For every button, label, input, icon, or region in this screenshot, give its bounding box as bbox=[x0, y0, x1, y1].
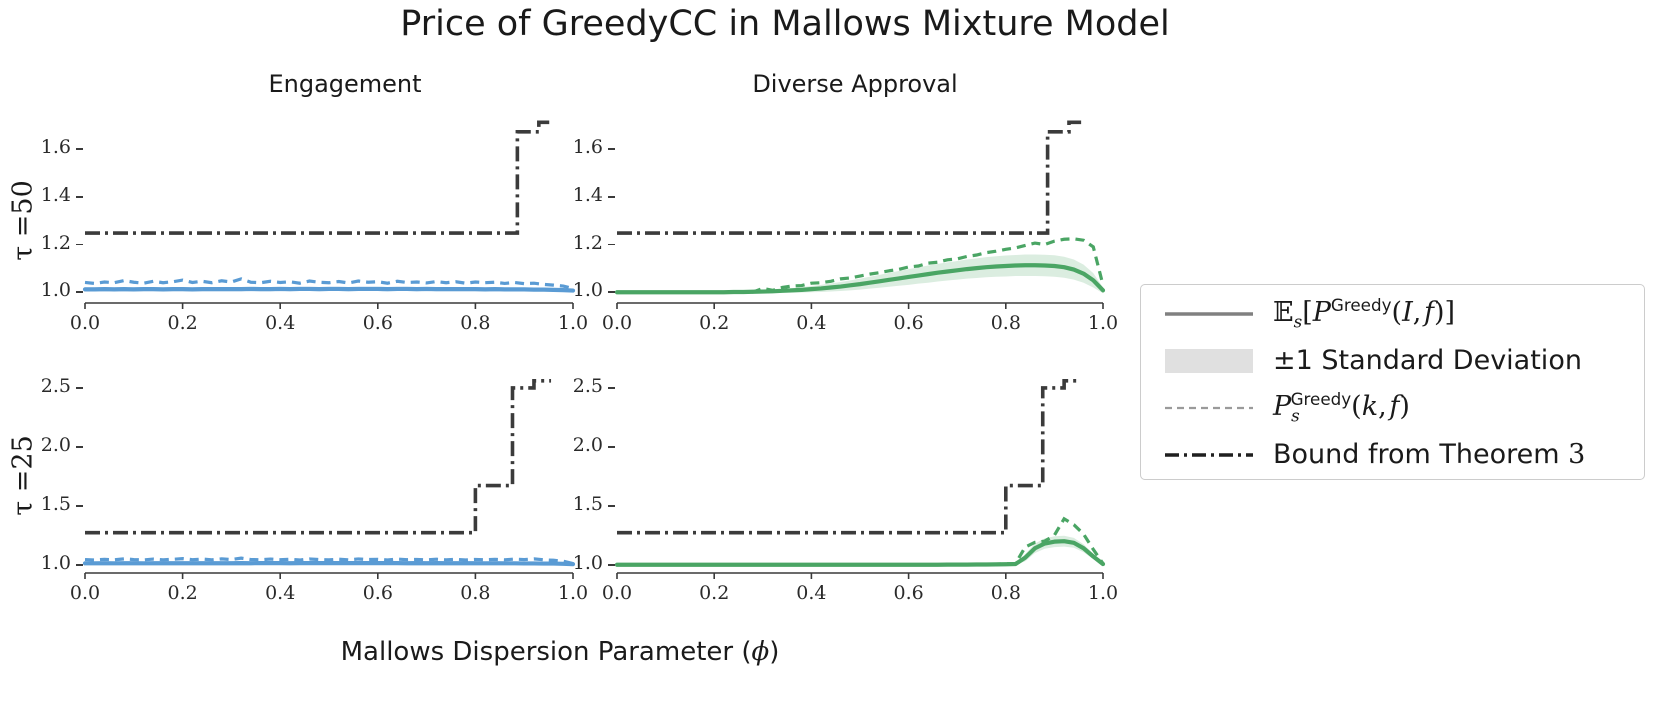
x-tick-label: 0.2 bbox=[684, 312, 744, 334]
figure-canvas: Price of GreedyCC in Mallows Mixture Mod… bbox=[0, 0, 1660, 703]
y-tick-label: 1.4 bbox=[23, 184, 71, 206]
y-tick-label: 2.5 bbox=[23, 375, 71, 397]
x-axis-label: Mallows Dispersion Parameter (ϕ) bbox=[300, 637, 820, 667]
x-axis-label-prefix: Mallows Dispersion Parameter ( bbox=[341, 637, 752, 667]
y-tick-label: 2.5 bbox=[555, 375, 603, 397]
y-tick-mark bbox=[76, 148, 83, 150]
legend-entry-bound: Bound from Theorem 3 bbox=[1141, 430, 1644, 479]
y-tick-label: 1.6 bbox=[555, 136, 603, 158]
x-tick-label: 0.6 bbox=[348, 312, 408, 334]
legend-bound-text: Bound from Theorem bbox=[1273, 439, 1568, 470]
y-tick-mark bbox=[76, 387, 83, 389]
theorem-bound-curve bbox=[85, 381, 551, 533]
x-tick-label: 0.0 bbox=[55, 312, 115, 334]
y-tick-label: 1.0 bbox=[555, 552, 603, 574]
plot-area bbox=[617, 118, 1103, 304]
x-tick-label: 0.2 bbox=[684, 582, 744, 604]
y-tick-label: 1.5 bbox=[23, 493, 71, 515]
x-tick-label: 0.4 bbox=[781, 582, 841, 604]
y-tick-mark bbox=[76, 505, 83, 507]
y-tick-mark bbox=[76, 446, 83, 448]
theorem-bound-curve bbox=[617, 381, 1081, 533]
x-tick-label: 0.2 bbox=[153, 312, 213, 334]
x-tick-label: 0.8 bbox=[976, 312, 1036, 334]
y-tick-mark bbox=[76, 244, 83, 246]
x-tick-label: 0.8 bbox=[976, 582, 1036, 604]
y-tick-mark bbox=[608, 291, 615, 293]
x-tick-label: 0.4 bbox=[781, 312, 841, 334]
x-axis-label-suffix: ) bbox=[769, 637, 779, 667]
panel-25-diverse-approval: 1.01.52.02.50.00.20.40.60.81.0 bbox=[617, 362, 1103, 574]
y-tick-mark bbox=[608, 564, 615, 566]
x-tick-label: 0.8 bbox=[445, 312, 505, 334]
y-tick-label: 1.2 bbox=[555, 232, 603, 254]
legend-bound-number: 3 bbox=[1568, 439, 1585, 470]
y-tick-label: 1.0 bbox=[23, 552, 71, 574]
figure-title: Price of GreedyCC in Mallows Mixture Mod… bbox=[0, 4, 1570, 44]
legend-sample-solid-line bbox=[1163, 299, 1255, 329]
x-tick-label: 0.2 bbox=[153, 582, 213, 604]
y-tick-label: 1.6 bbox=[23, 136, 71, 158]
std-deviation-band bbox=[617, 255, 1103, 294]
x-tick-label: 0.0 bbox=[587, 582, 647, 604]
legend-label-bound: Bound from Theorem 3 bbox=[1273, 439, 1585, 470]
legend-label-std-band: ±1 Standard Deviation bbox=[1273, 345, 1582, 376]
y-tick-label: 2.0 bbox=[555, 434, 603, 456]
y-tick-mark bbox=[76, 564, 83, 566]
x-tick-label: 0.0 bbox=[55, 582, 115, 604]
panel-25-engagement: 1.01.52.02.50.00.20.40.60.81.0 bbox=[85, 362, 573, 574]
plot-area bbox=[85, 118, 573, 304]
sample-curve bbox=[617, 519, 1103, 565]
column-title-diverse-approval: Diverse Approval bbox=[630, 70, 1080, 98]
y-tick-mark bbox=[608, 148, 615, 150]
mean-curve bbox=[85, 289, 573, 291]
x-tick-label: 0.0 bbox=[587, 312, 647, 334]
y-tick-label: 1.0 bbox=[23, 279, 71, 301]
plot-area bbox=[85, 362, 573, 574]
phi-symbol: ϕ bbox=[751, 637, 769, 667]
theorem-bound-curve bbox=[85, 122, 551, 233]
legend-sample-dashdot-line bbox=[1163, 440, 1255, 470]
legend-entry-mean: 𝔼s[PGreedy(I, f)] bbox=[1141, 289, 1644, 338]
legend-sample-dashed-line bbox=[1163, 393, 1255, 423]
panel-50-diverse-approval: 1.01.21.41.60.00.20.40.60.81.0 bbox=[617, 118, 1103, 304]
legend-entry-std-band: ±1 Standard Deviation bbox=[1141, 336, 1644, 385]
x-tick-label: 0.6 bbox=[879, 582, 939, 604]
column-title-engagement: Engagement bbox=[120, 70, 570, 98]
y-tick-label: 1.0 bbox=[555, 279, 603, 301]
y-tick-label: 2.0 bbox=[23, 434, 71, 456]
legend-label-mean: 𝔼s[PGreedy(I, f)] bbox=[1273, 295, 1455, 331]
x-tick-label: 0.6 bbox=[879, 312, 939, 334]
y-tick-mark bbox=[76, 291, 83, 293]
x-tick-label: 1.0 bbox=[1073, 312, 1133, 334]
y-tick-mark bbox=[608, 446, 615, 448]
theorem-bound-curve bbox=[617, 122, 1081, 233]
panel-50-engagement: 1.01.21.41.60.00.20.40.60.81.0 bbox=[85, 118, 573, 304]
y-tick-mark bbox=[608, 244, 615, 246]
x-tick-label: 0.8 bbox=[445, 582, 505, 604]
x-tick-label: 0.4 bbox=[250, 312, 310, 334]
legend-box: 𝔼s[PGreedy(I, f)] ±1 Standard Deviation … bbox=[1140, 284, 1645, 480]
plot-area bbox=[617, 362, 1103, 574]
y-tick-mark bbox=[76, 196, 83, 198]
y-tick-label: 1.5 bbox=[555, 493, 603, 515]
legend-entry-sample: PsGreedy(k, f) bbox=[1141, 383, 1644, 432]
x-tick-label: 0.6 bbox=[348, 582, 408, 604]
legend-sample-band-patch bbox=[1163, 346, 1255, 376]
y-tick-label: 1.4 bbox=[555, 184, 603, 206]
x-tick-label: 0.4 bbox=[250, 582, 310, 604]
mean-curve bbox=[85, 563, 573, 564]
y-tick-mark bbox=[608, 387, 615, 389]
y-tick-mark bbox=[608, 505, 615, 507]
legend-label-sample: PsGreedy(k, f) bbox=[1273, 389, 1410, 425]
y-tick-label: 1.2 bbox=[23, 232, 71, 254]
y-tick-mark bbox=[608, 196, 615, 198]
x-tick-label: 1.0 bbox=[1073, 582, 1133, 604]
